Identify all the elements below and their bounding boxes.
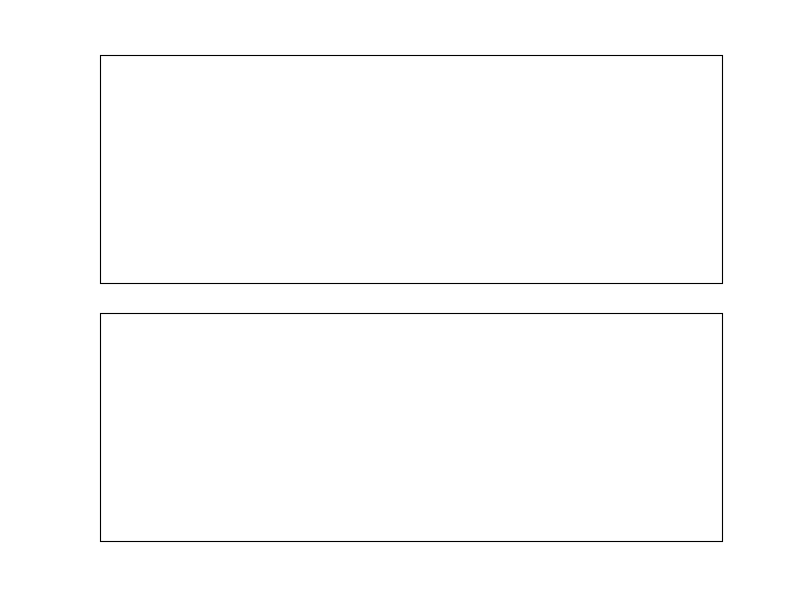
figure-background — [0, 0, 800, 600]
plot-canvas — [0, 0, 800, 600]
spectrum-figure — [0, 0, 800, 600]
